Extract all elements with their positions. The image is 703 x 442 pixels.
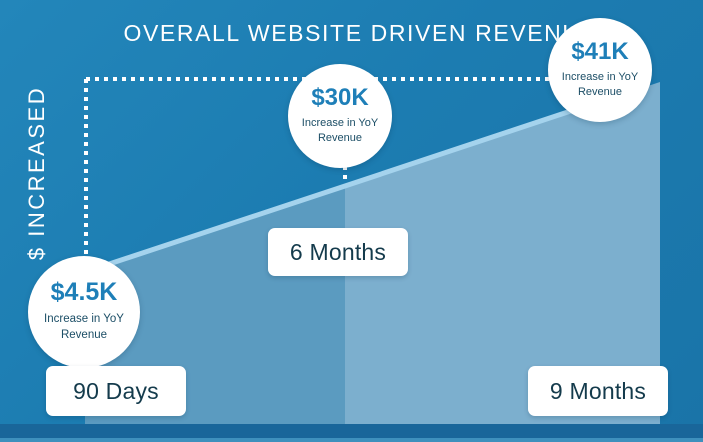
baseline-strip <box>0 438 703 442</box>
x-axis-label-90days[interactable]: 90 Days <box>46 366 186 416</box>
callout-amount-6months: $30K <box>311 86 368 110</box>
x-axis-label-6months[interactable]: 6 Months <box>268 228 408 276</box>
y-axis-label: $ INCREASED <box>24 58 50 288</box>
callout-subtitle-line2-6months: Revenue <box>318 131 362 146</box>
baseline-band <box>0 424 703 438</box>
callout-amount-9months: $41K <box>571 40 628 64</box>
callout-subtitle-line2-9months: Revenue <box>578 85 622 100</box>
x-axis-label-9months[interactable]: 9 Months <box>528 366 668 416</box>
callout-circle-90days[interactable]: $4.5K Increase in YoY Revenue <box>28 256 140 368</box>
callout-circle-9months[interactable]: $41K Increase in YoY Revenue <box>548 18 652 122</box>
callout-amount-90days: $4.5K <box>51 280 118 305</box>
callout-subtitle-line2-90days: Revenue <box>61 328 107 344</box>
callout-subtitle-line1-90days: Increase in YoY <box>44 312 124 328</box>
callout-circle-6months[interactable]: $30K Increase in YoY Revenue <box>288 64 392 168</box>
infographic-chart: OVERALL WEBSITE DRIVEN REVENUE $ INCREAS… <box>0 0 703 442</box>
callout-subtitle-line1-6months: Increase in YoY <box>302 116 378 131</box>
callout-subtitle-line1-9months: Increase in YoY <box>562 70 638 85</box>
